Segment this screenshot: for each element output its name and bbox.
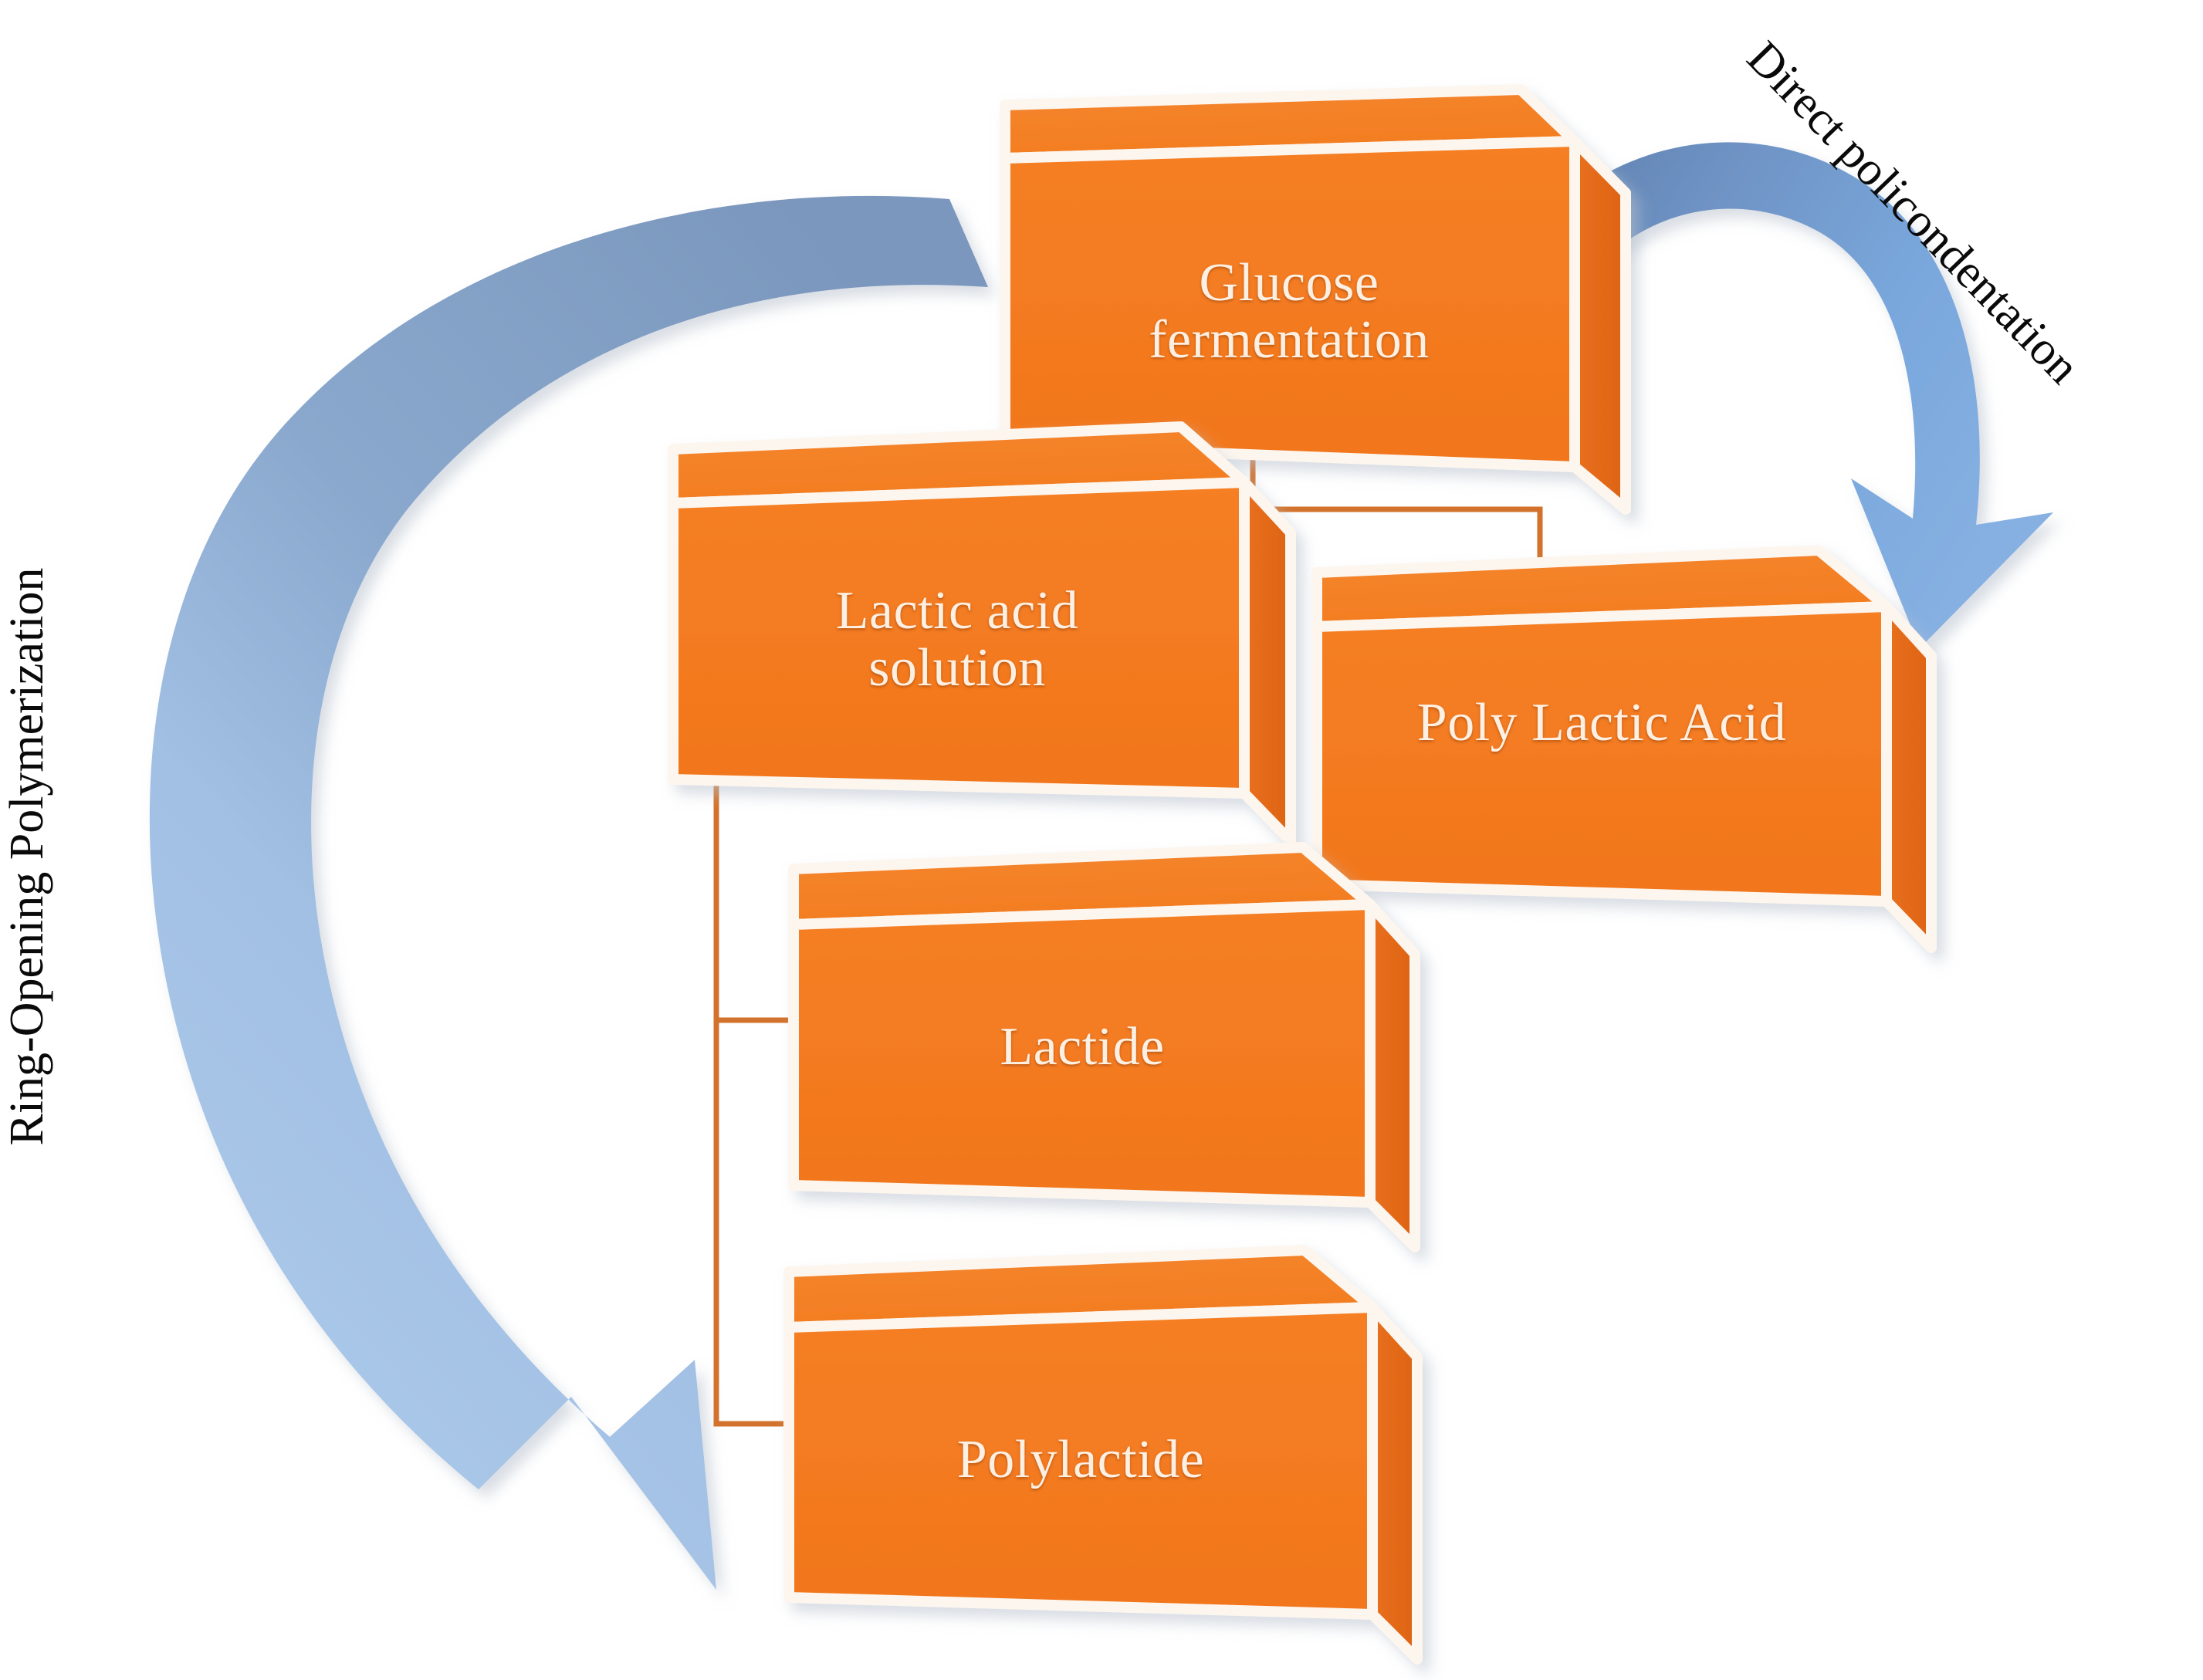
box-polylactide[interactable] — [789, 1250, 1417, 1659]
diagram-canvas: Glucose fermentation Lactic acid solutio… — [0, 0, 2203, 1680]
box-polylactide-face — [789, 1307, 1372, 1614]
box-lactic-acid-solution[interactable] — [673, 427, 1291, 841]
box-lactide-side — [1370, 904, 1415, 1247]
box-poly-lactic-acid[interactable] — [1317, 550, 1931, 948]
box-pla-face — [1317, 607, 1887, 901]
box-lactide-face — [794, 904, 1370, 1202]
diagram-scene — [0, 0, 2203, 1680]
box-glucose-side — [1575, 141, 1626, 509]
box-pla-side — [1887, 607, 1931, 948]
box-polylactide-side — [1372, 1307, 1417, 1659]
box-lactic-side — [1244, 482, 1291, 841]
box-lactide[interactable] — [794, 847, 1415, 1247]
arrow-label-ring-opening-polymerization: Ring-Opening Polymerization — [0, 567, 55, 1145]
box-glucose-face — [1005, 141, 1575, 467]
box-lactic-face — [673, 482, 1244, 793]
